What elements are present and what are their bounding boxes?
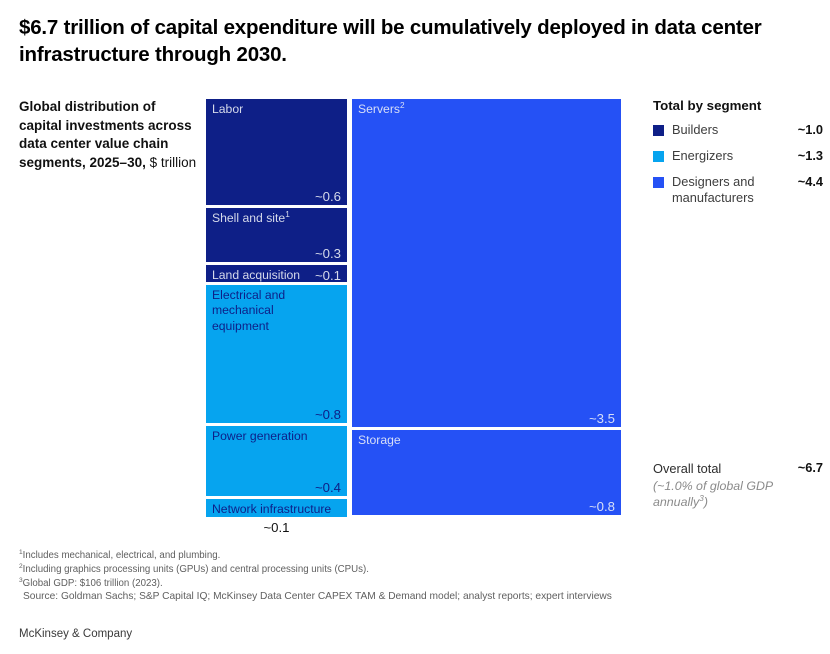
treemap-cell-network-infrastructure[interactable]: Network infrastructure xyxy=(205,498,348,518)
footnotes: 1Includes mechanical, electrical, and pl… xyxy=(19,549,719,605)
treemap-cell-storage[interactable]: Storage ~0.8 xyxy=(351,429,622,516)
treemap-cell-electrical-mechanical-equipment-value: ~0.8 xyxy=(315,407,341,422)
treemap-column-right: Servers2 ~3.5 Storage ~0.8 xyxy=(351,98,622,516)
treemap-cell-network-infrastructure-value: ~0.1 xyxy=(205,520,348,535)
treemap-cell-storage-value: ~0.8 xyxy=(589,499,615,514)
legend-swatch-energizers-icon xyxy=(653,151,664,162)
chart-subtitle: Global distribution of capital investmen… xyxy=(19,98,197,173)
chart-subtitle-unit: $ trillion xyxy=(150,155,197,170)
treemap-cell-electrical-mechanical-equipment[interactable]: Electrical and mechanical equipment ~0.8 xyxy=(205,284,348,424)
treemap-cell-land-acquisition-value: ~0.1 xyxy=(315,268,341,283)
treemap-cell-power-generation-label: Power generation xyxy=(212,429,308,444)
treemap-cell-land-acquisition-label: Land acquisition xyxy=(212,268,300,283)
legend-item-builders[interactable]: Builders ~1.0 xyxy=(653,122,823,139)
overall-total-value: ~6.7 xyxy=(798,460,823,475)
legend-item-energizers-value: ~1.3 xyxy=(798,148,823,163)
legend-item-designers-and-manufacturers[interactable]: Designers and manufacturers ~4.4 xyxy=(653,174,823,207)
legend-item-builders-label: Builders xyxy=(672,122,768,138)
overall-total-note: (~1.0% of global GDP annually3) xyxy=(653,479,823,511)
treemap-cell-servers-value: ~3.5 xyxy=(589,411,615,426)
treemap-cell-servers[interactable]: Servers2 ~3.5 xyxy=(351,98,622,428)
treemap-column-left: Labor ~0.6 Shell and site1 ~0.3 Land acq… xyxy=(205,98,348,518)
treemap-cell-power-generation[interactable]: Power generation ~0.4 xyxy=(205,425,348,497)
legend-item-designers-and-manufacturers-value: ~4.4 xyxy=(798,174,823,189)
treemap-cell-network-infrastructure-label: Network infrastructure xyxy=(212,502,331,517)
treemap-cell-labor[interactable]: Labor ~0.6 xyxy=(205,98,348,206)
footnote-marker-2: 2 xyxy=(400,100,405,110)
page-title: $6.7 trillion of capital expenditure wil… xyxy=(19,14,779,68)
legend-item-energizers-label: Energizers xyxy=(672,148,768,164)
legend-item-builders-value: ~1.0 xyxy=(798,122,823,137)
treemap-cell-labor-value: ~0.6 xyxy=(315,189,341,204)
brand-logo: McKinsey & Company xyxy=(19,628,132,640)
treemap-cell-power-generation-value: ~0.4 xyxy=(315,480,341,495)
source-line: Source: Goldman Sachs; S&P Capital IQ; M… xyxy=(19,590,719,604)
overall-total-row: Overall total ~6.7 xyxy=(653,460,823,478)
treemap-cell-servers-label: Servers2 xyxy=(358,102,405,117)
footnote-3-text: Global GDP: $106 trillion (2023). xyxy=(23,578,163,589)
footnote-2-text: Including graphics processing units (GPU… xyxy=(23,564,369,575)
footnote-3: 3Global GDP: $106 trillion (2023). xyxy=(19,577,719,591)
treemap-cell-labor-label: Labor xyxy=(212,102,243,117)
footnote-1: 1Includes mechanical, electrical, and pl… xyxy=(19,549,719,563)
legend: Total by segment Builders ~1.0 Energizer… xyxy=(653,98,823,216)
legend-title: Total by segment xyxy=(653,98,823,113)
treemap-cell-shell-and-site[interactable]: Shell and site1 ~0.3 xyxy=(205,207,348,263)
treemap-cell-shell-and-site-label: Shell and site1 xyxy=(212,211,290,226)
legend-swatch-designers-and-manufacturers-icon xyxy=(653,177,664,188)
treemap-cell-storage-label: Storage xyxy=(358,433,401,448)
treemap-cell-land-acquisition[interactable]: Land acquisition ~0.1 xyxy=(205,264,348,283)
footnote-marker-1: 1 xyxy=(285,209,290,219)
legend-item-designers-and-manufacturers-label: Designers and manufacturers xyxy=(672,174,768,207)
treemap-cell-shell-and-site-value: ~0.3 xyxy=(315,246,341,261)
footnote-2: 2Including graphics processing units (GP… xyxy=(19,563,719,577)
chart-page: $6.7 trillion of capital expenditure wil… xyxy=(0,0,830,654)
treemap-cell-electrical-mechanical-equipment-label: Electrical and mechanical equipment xyxy=(212,288,285,334)
overall-total: Overall total ~6.7 (~1.0% of global GDP … xyxy=(653,460,823,511)
legend-swatch-builders-icon xyxy=(653,125,664,136)
footnote-1-text: Includes mechanical, electrical, and plu… xyxy=(23,550,221,561)
overall-total-label: Overall total xyxy=(653,461,721,476)
legend-item-energizers[interactable]: Energizers ~1.3 xyxy=(653,148,823,165)
